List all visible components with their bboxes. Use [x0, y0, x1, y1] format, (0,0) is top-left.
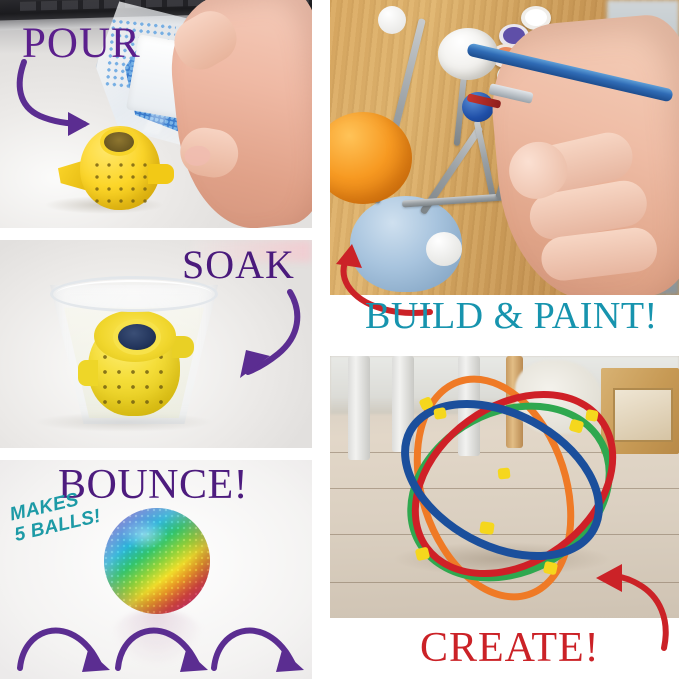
fish-holes	[102, 354, 170, 412]
caption-create: CREATE!	[420, 627, 600, 669]
planet-moon	[426, 232, 462, 266]
table-leg-1	[348, 356, 370, 460]
fish-fill-opening	[104, 132, 134, 152]
hoop-sphere-toy	[382, 372, 630, 604]
panel-build-paint	[330, 0, 679, 295]
panel-create	[330, 356, 679, 618]
fish-fin	[148, 164, 174, 184]
fish-side-fin	[78, 360, 98, 386]
ball-reflection	[110, 610, 204, 666]
collage-board: POUR SOAK	[0, 0, 679, 679]
fish-holes	[94, 162, 150, 206]
caption-pour: POUR	[22, 22, 141, 65]
planet-small-white	[378, 6, 406, 34]
ball-gloss	[121, 519, 168, 551]
fish-plug	[118, 324, 156, 350]
water-cup	[50, 276, 218, 424]
caption-build-paint: BUILD & PAINT!	[365, 297, 658, 335]
caption-soak: SOAK	[182, 245, 295, 285]
rainbow-bouncy-ball	[104, 508, 210, 614]
fish-mold-toy	[58, 118, 176, 214]
